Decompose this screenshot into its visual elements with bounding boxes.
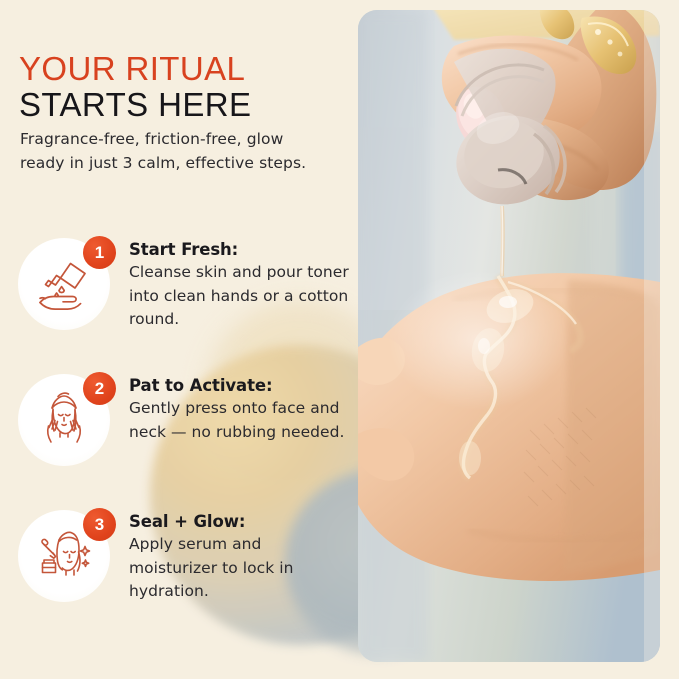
step-description: Gently press onto face and neck — no rub… (129, 397, 354, 444)
product-photo (358, 10, 660, 662)
status-badge: 1 (83, 236, 116, 269)
step-text-group: Pat to Activate: Gently press onto face … (129, 374, 354, 444)
status-badge: 2 (83, 372, 116, 405)
list-item: 2 Pat to Activate: Gently press onto fac… (0, 368, 358, 504)
steps-list: 1 Start Fresh: Cleanse skin and pour ton… (0, 232, 358, 640)
list-item: 3 Seal + Glow: Apply serum and moisturiz… (0, 504, 358, 640)
photo-illustration (358, 10, 660, 662)
headline-line-1: YOUR RITUAL (19, 52, 349, 86)
headline-line-2: STARTS HERE (19, 86, 349, 123)
step-title: Seal + Glow: (129, 510, 354, 533)
step-title: Pat to Activate: (129, 374, 354, 397)
step-description: Cleanse skin and pour toner into clean h… (129, 261, 354, 332)
subheadline-text: Fragrance-free, friction-free, glow read… (20, 128, 320, 175)
step-icon-badge-group: 1 (18, 238, 114, 334)
step-icon-badge-group: 2 (18, 374, 114, 470)
left-content-column: YOUR RITUAL STARTS HERE Fragrance-free, … (0, 0, 358, 679)
step-title: Start Fresh: (129, 238, 354, 261)
step-description: Apply serum and moisturizer to lock in h… (129, 533, 354, 604)
page-title: YOUR RITUAL STARTS HERE (19, 52, 349, 123)
list-item: 1 Start Fresh: Cleanse skin and pour ton… (0, 232, 358, 368)
product-ritual-poster: YOUR RITUAL STARTS HERE Fragrance-free, … (0, 0, 679, 679)
step-icon-badge-group: 3 (18, 510, 114, 606)
status-badge: 3 (83, 508, 116, 541)
step-text-group: Seal + Glow: Apply serum and moisturizer… (129, 510, 354, 604)
step-text-group: Start Fresh: Cleanse skin and pour toner… (129, 238, 354, 332)
